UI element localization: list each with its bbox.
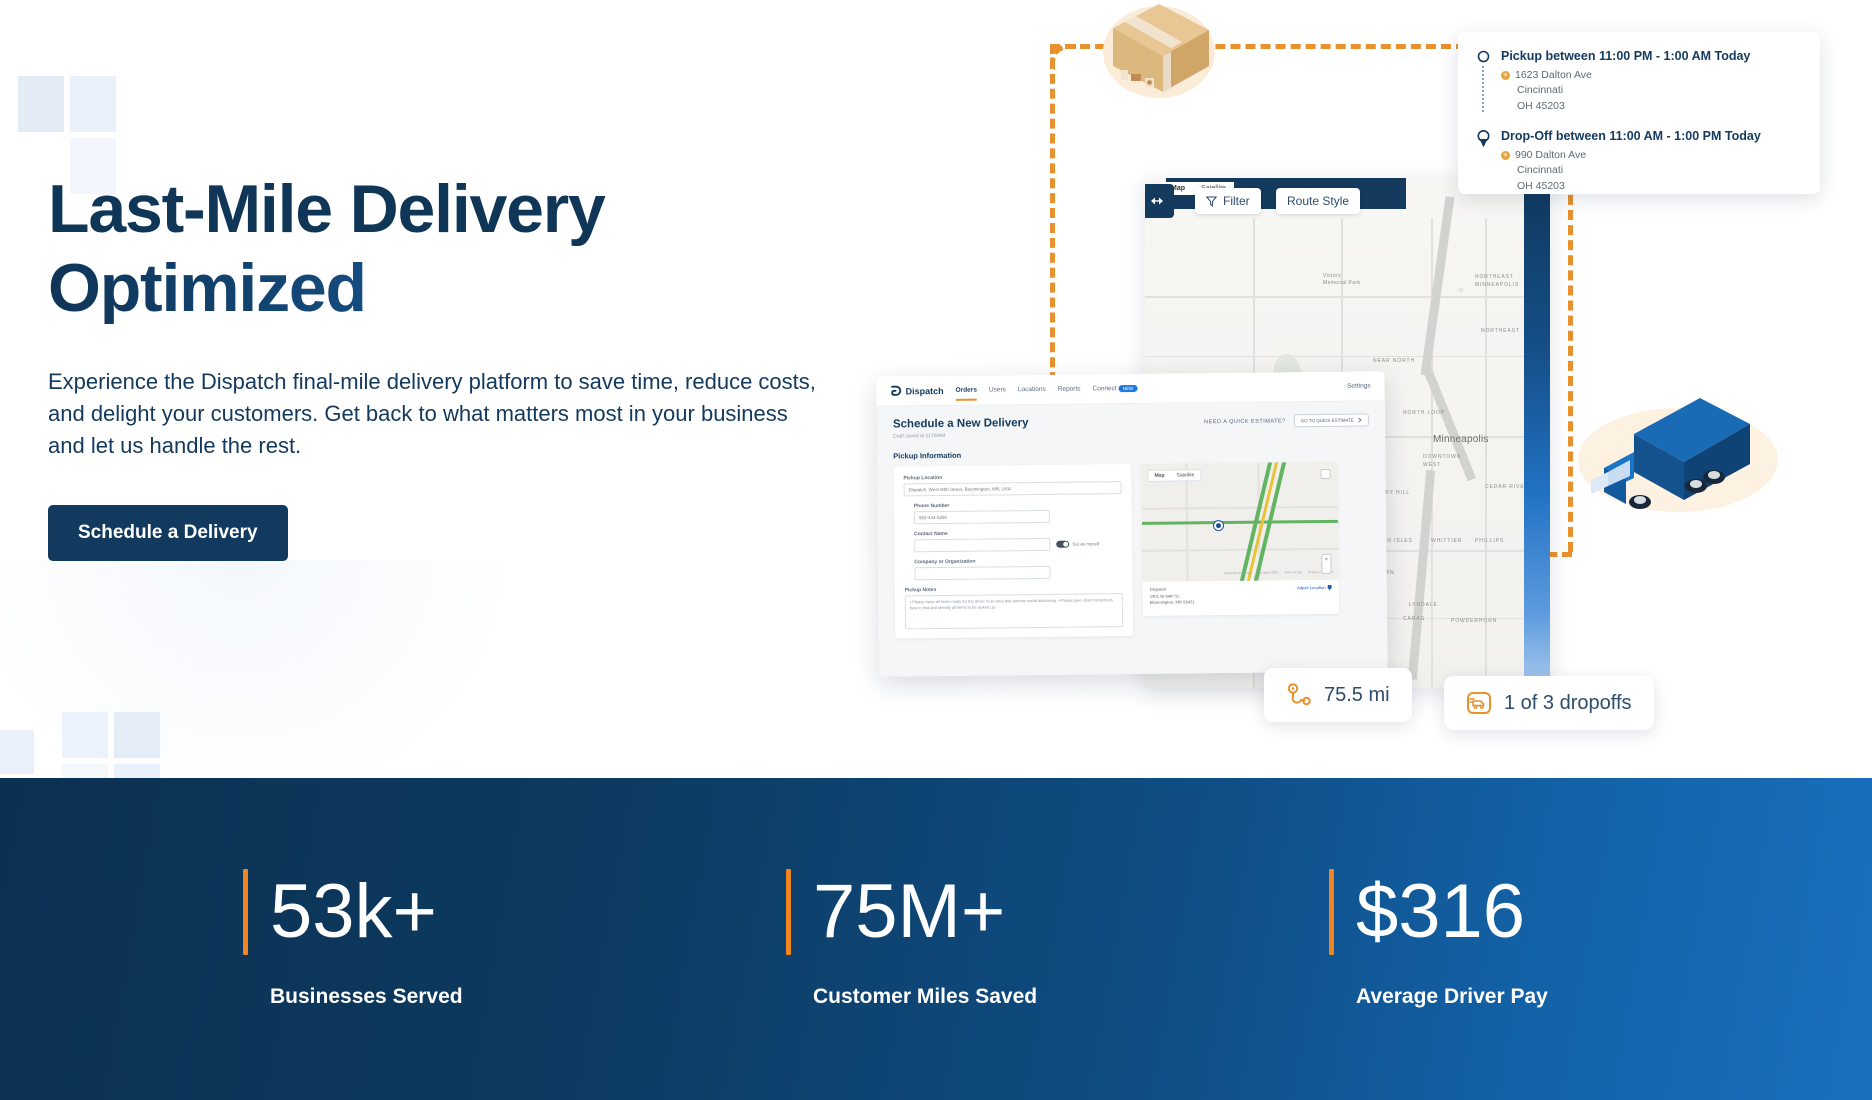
left-right-arrows-icon xyxy=(1147,196,1167,206)
pickup-address: 1623 Dalton Ave xyxy=(1515,68,1592,83)
dropoffs-badge: 1 of 3 dropoffs xyxy=(1444,676,1654,730)
hero-subtext: Experience the Dispatch final-mile deliv… xyxy=(48,366,818,463)
distance-badge: 75.5 mi xyxy=(1264,668,1412,722)
go-to-quick-estimate-button[interactable]: GO TO QUICK ESTIMATE xyxy=(1294,414,1369,428)
set-as-myself-toggle[interactable]: Set as myself xyxy=(1056,540,1099,547)
stat-value: 53k+ xyxy=(270,869,437,954)
app-page-title: Schedule a New Delivery xyxy=(893,417,1029,430)
adjust-location-link[interactable]: Adjust Location xyxy=(1297,585,1332,609)
hero-section: Last-Mile Delivery Optimized Experience … xyxy=(0,0,1872,778)
dispatch-app-screenshot[interactable]: Dispatch Orders Users Locations Reports … xyxy=(876,371,1387,676)
quick-estimate-group: NEED A QUICK ESTIMATE? GO TO QUICK ESTIM… xyxy=(1204,414,1369,429)
decorative-square xyxy=(114,764,160,778)
mini-map-tab-satellite[interactable]: Satellite xyxy=(1170,470,1200,480)
pickup-location-map-card[interactable]: Map Satellite + Keyboard shortcuts Map d… xyxy=(1141,462,1339,616)
dropoff-window-title: Drop-Off between 11:00 AM - 1:00 PM Toda… xyxy=(1501,128,1761,144)
go-to-quick-estimate-label: GO TO QUICK ESTIMATE xyxy=(1301,418,1354,424)
pickup-state-zip: OH 45203 xyxy=(1517,99,1750,114)
stop-connector-line xyxy=(1482,66,1484,112)
stat-label: Customer Miles Saved xyxy=(813,985,1329,1009)
stat-value-row: $316 xyxy=(1329,869,1872,954)
pickup-notes-label: Pickup Notes xyxy=(905,585,1123,593)
pickup-form-grid: Pickup Location Dispatch, West 94th Stre… xyxy=(893,462,1371,639)
app-nav-connect[interactable]: ConnectNEW xyxy=(1092,385,1137,392)
pickup-window-title: Pickup between 11:00 PM - 1:00 AM Today xyxy=(1501,48,1750,64)
pickup-address-lines: Dispatch 1401 W 94th St. Bloomington, MN… xyxy=(1150,586,1195,610)
stat-value-row: 75M+ xyxy=(786,869,1329,954)
company-label: Company or Organization xyxy=(914,557,1122,565)
decorative-square xyxy=(62,764,108,778)
dropoff-address-row: ✳ 990 Dalton Ave xyxy=(1501,148,1761,163)
map-pan-toggle-button[interactable] xyxy=(1145,184,1174,218)
package-box-icon xyxy=(1103,0,1223,102)
page-title: Last-Mile Delivery Optimized xyxy=(48,175,838,324)
pickup-address-badge-icon: ✳ xyxy=(1501,71,1510,80)
dropoff-city: Cincinnati xyxy=(1517,163,1761,178)
phone-number-label: Phone Number xyxy=(914,501,1122,509)
set-as-myself-label: Set as myself xyxy=(1072,541,1099,546)
decorative-square xyxy=(18,76,64,132)
stat-accent-rule xyxy=(1329,869,1334,954)
stat-accent-rule xyxy=(786,869,791,954)
contact-name-input[interactable] xyxy=(914,538,1050,552)
app-nav-users[interactable]: Users xyxy=(989,386,1006,393)
stat-value: 75M+ xyxy=(813,869,1005,954)
mini-map-zoom-in-button[interactable]: + xyxy=(1321,554,1331,574)
decorative-square xyxy=(62,712,108,758)
pickup-information-heading: Pickup Information xyxy=(893,447,1369,461)
stats-inner: 53k+ Businesses Served 75M+ Customer Mil… xyxy=(0,869,1872,1008)
app-body: Schedule a New Delivery Draft saved at 1… xyxy=(877,401,1388,676)
decorative-square xyxy=(0,730,34,774)
map-pin-filled-icon xyxy=(1477,130,1490,148)
pickup-notes-textarea[interactable]: • Please have all items ready for the dr… xyxy=(905,593,1123,629)
route-stops-card: Pickup between 11:00 PM - 1:00 AM Today … xyxy=(1458,32,1820,194)
chevron-right-icon xyxy=(1358,418,1362,423)
phone-number-input[interactable]: 952-444-5280 xyxy=(914,510,1050,524)
app-nav-locations[interactable]: Locations xyxy=(1018,386,1046,393)
attribution-item: Map data ©2021 xyxy=(1256,570,1278,574)
pickup-location-input[interactable]: Dispatch, West 94th Street, Bloomington,… xyxy=(904,481,1122,496)
schedule-a-delivery-button[interactable]: Schedule a Delivery xyxy=(48,505,288,561)
decorative-square xyxy=(114,712,160,758)
headline-line-2: Optimized xyxy=(48,254,838,323)
stat-label: Businesses Served xyxy=(270,985,786,1009)
adjust-location-label: Adjust Location xyxy=(1297,585,1326,590)
contact-name-label: Contact Name xyxy=(914,529,1122,537)
mini-map-tab-map[interactable]: Map xyxy=(1148,471,1170,481)
pickup-form-card: Pickup Location Dispatch, West 94th Stre… xyxy=(893,464,1133,638)
stat-label: Average Driver Pay xyxy=(1356,985,1872,1009)
toggle-switch[interactable] xyxy=(1056,541,1069,548)
package-box-illustration xyxy=(1103,0,1223,102)
quick-estimate-prompt: NEED A QUICK ESTIMATE? xyxy=(1204,418,1286,425)
company-input[interactable] xyxy=(914,566,1050,580)
mini-map-fullscreen-button[interactable] xyxy=(1320,469,1330,479)
pickup-city: Cincinnati xyxy=(1517,83,1750,98)
map-filter-button[interactable]: Filter xyxy=(1195,188,1261,214)
mini-map-layer-tabs[interactable]: Map Satellite xyxy=(1147,469,1201,482)
map-route-style-label: Route Style xyxy=(1287,194,1349,208)
dispatch-mark-icon xyxy=(891,385,902,396)
dropoffs-value: 1 of 3 dropoffs xyxy=(1504,692,1632,715)
decorative-square xyxy=(70,76,116,132)
attribution-item: Terms of Use xyxy=(1284,570,1302,574)
pickup-location-label: Pickup Location xyxy=(903,473,1121,481)
stat-value-row: 53k+ xyxy=(243,869,786,954)
stats-band: 53k+ Businesses Served 75M+ Customer Mil… xyxy=(0,778,1872,1100)
map-filter-label: Filter xyxy=(1223,194,1250,208)
draft-saved-status: Draft saved at 11:09AM xyxy=(893,432,1029,439)
pickup-stop: Pickup between 11:00 PM - 1:00 AM Today … xyxy=(1476,48,1802,114)
app-nav-connect-label: Connect xyxy=(1092,385,1116,392)
delivery-truck-illustration xyxy=(1578,382,1794,532)
dropoff-stop: Drop-Off between 11:00 AM - 1:00 PM Toda… xyxy=(1476,128,1802,194)
stat-value: $316 xyxy=(1356,869,1525,954)
headline-line-1: Last-Mile Delivery xyxy=(48,171,605,247)
app-nav-settings[interactable]: Settings xyxy=(1347,382,1371,389)
filter-funnel-icon xyxy=(1206,196,1217,207)
map-gradient-edge xyxy=(1524,178,1550,688)
map-route-style-button[interactable]: Route Style xyxy=(1276,188,1360,214)
connect-new-badge: NEW xyxy=(1119,385,1138,392)
pickup-address-card: Dispatch 1401 W 94th St. Bloomington, MN… xyxy=(1143,580,1339,616)
hero-copy: Last-Mile Delivery Optimized Experience … xyxy=(48,175,838,561)
stat-accent-rule xyxy=(243,869,248,954)
dropoff-marker xyxy=(1476,128,1491,194)
route-icon xyxy=(1286,682,1312,708)
pickup-address-row: ✳ 1623 Dalton Ave xyxy=(1501,68,1750,83)
app-nav-orders[interactable]: Orders xyxy=(956,387,977,394)
map-pin-icon xyxy=(1328,585,1332,591)
dispatch-logo[interactable]: Dispatch xyxy=(891,385,944,397)
dropoff-address: 990 Dalton Ave xyxy=(1515,148,1586,163)
dispatch-wordmark: Dispatch xyxy=(906,385,944,395)
circle-outline-icon xyxy=(1477,50,1490,63)
dropoff-address-badge-icon: ✳ xyxy=(1501,151,1510,160)
attribution-item: Keyboard shortcuts xyxy=(1224,571,1250,575)
stat-businesses-served: 53k+ Businesses Served xyxy=(243,869,786,1008)
location-city-state-zip: Bloomington, MN 55431 xyxy=(1150,599,1195,606)
app-title-row: Schedule a New Delivery Draft saved at 1… xyxy=(893,414,1369,440)
box-truck-icon xyxy=(1578,382,1794,532)
dropoff-state-zip: OH 45203 xyxy=(1517,179,1761,194)
distance-value: 75.5 mi xyxy=(1324,684,1390,707)
stat-average-driver-pay: $316 Average Driver Pay xyxy=(1329,869,1872,1008)
app-nav-reports[interactable]: Reports xyxy=(1058,386,1081,393)
stat-customer-miles-saved: 75M+ Customer Miles Saved xyxy=(786,869,1329,1008)
pickup-map-pin xyxy=(1214,521,1223,530)
delivery-van-icon xyxy=(1466,690,1492,716)
